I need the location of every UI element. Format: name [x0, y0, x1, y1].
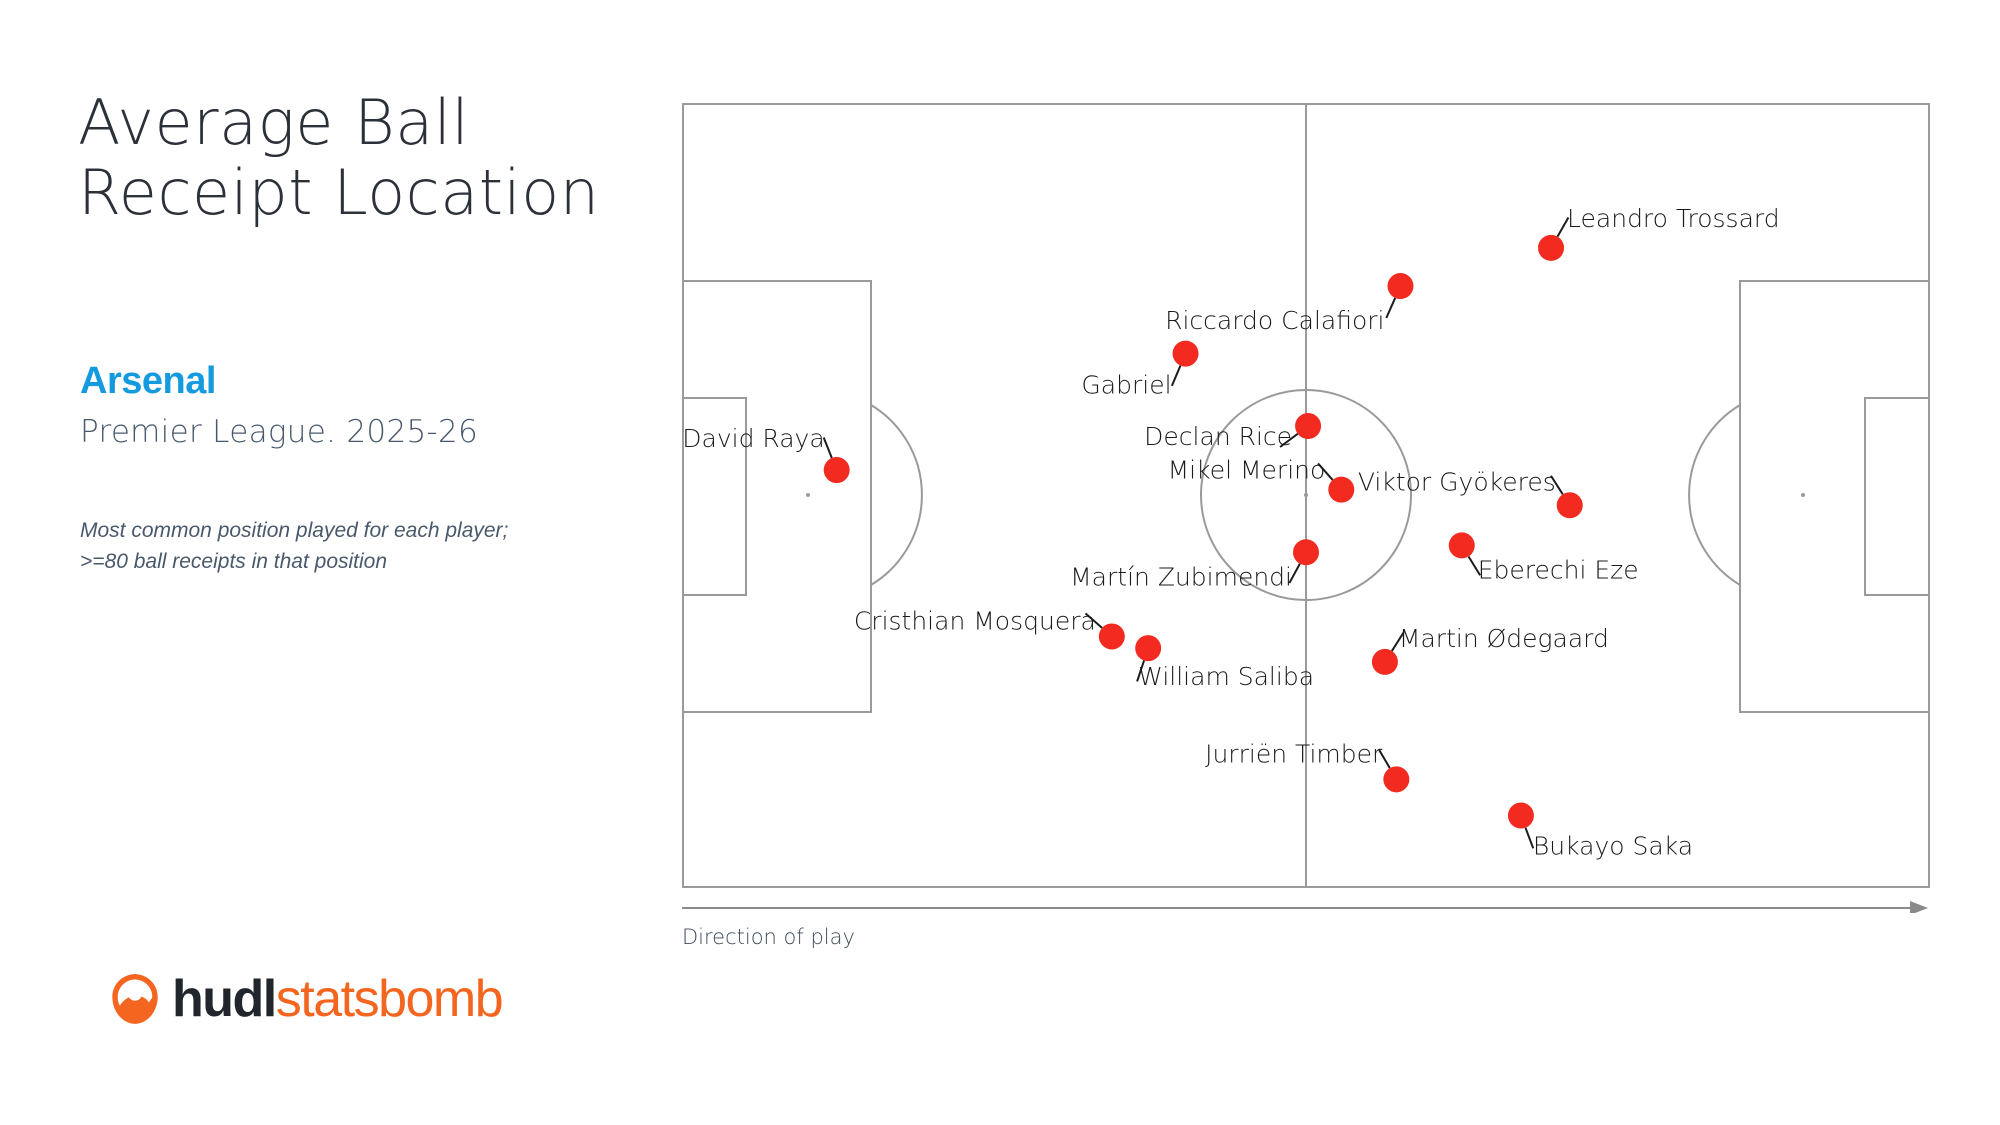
title-line-1: Average Ball: [78, 88, 600, 158]
player-marker[interactable]: Mikel Merino: [1168, 456, 1355, 503]
right-penalty-area: [1740, 281, 1929, 712]
competition-season: Premier League. 2025-26: [80, 414, 478, 450]
player-marker[interactable]: Viktor Gyökeres: [1358, 467, 1583, 518]
player-dot[interactable]: [1449, 532, 1475, 558]
right-penalty-arc: [1689, 405, 1740, 585]
player-label: Eberechi Eze: [1478, 555, 1639, 584]
player-label: Martin Ødegaard: [1399, 624, 1609, 653]
player-label: Mikel Merino: [1168, 456, 1326, 485]
center-spot: [1304, 493, 1308, 497]
player-dot[interactable]: [824, 457, 850, 483]
player-marker[interactable]: Cristhian Mosquera: [854, 606, 1125, 649]
leader-line: [1172, 366, 1181, 386]
hudl-swirl-icon: [108, 972, 162, 1026]
logo-statsbomb-text: statsbomb: [276, 970, 502, 1028]
player-marker[interactable]: Riccardo Calafiori: [1165, 273, 1413, 335]
player-marker[interactable]: Jurriën Timber: [1205, 739, 1409, 792]
player-dot[interactable]: [1099, 623, 1125, 649]
right-penalty-spot: [1801, 493, 1805, 497]
player-dot[interactable]: [1295, 413, 1321, 439]
pitch-plot: David RayaGabrielRiccardo CalafioriLeand…: [682, 103, 1930, 888]
title-line-2: Receipt Location: [78, 158, 600, 228]
player-label: Bukayo Saka: [1533, 832, 1693, 861]
player-dot[interactable]: [1372, 649, 1398, 675]
note-line-2: >=80 ball receipts in that position: [80, 546, 508, 577]
player-marker[interactable]: Bukayo Saka: [1508, 803, 1693, 861]
player-dot[interactable]: [1508, 803, 1534, 829]
direction-of-play-label: Direction of play: [682, 925, 855, 949]
note-line-1: Most common position played for each pla…: [80, 515, 508, 546]
player-label: Viktor Gyökeres: [1358, 467, 1556, 496]
logo-wordmark: hudlstatsbomb: [172, 972, 502, 1026]
page-title: Average Ball Receipt Location: [78, 88, 600, 228]
player-marker[interactable]: Martín Zubimendi: [1070, 539, 1319, 591]
direction-of-play-arrow: [682, 901, 1928, 913]
visualization-canvas: Average Ball Receipt Location Arsenal Pr…: [0, 0, 2000, 1125]
player-dot[interactable]: [1173, 341, 1199, 367]
player-dot[interactable]: [1538, 235, 1564, 261]
player-label: Riccardo Calafiori: [1165, 306, 1384, 335]
team-name: Arsenal: [80, 360, 216, 403]
player-label: William Saliba: [1138, 662, 1314, 691]
player-marker[interactable]: Eberechi Eze: [1449, 532, 1639, 584]
player-dot[interactable]: [1387, 273, 1413, 299]
player-label: David Raya: [682, 424, 824, 453]
player-dot[interactable]: [1328, 477, 1354, 503]
right-six-yard-box: [1865, 398, 1929, 595]
player-dot[interactable]: [1383, 766, 1409, 792]
left-penalty-arc: [871, 405, 922, 585]
player-dot[interactable]: [1293, 539, 1319, 565]
player-label: Cristhian Mosquera: [854, 606, 1096, 635]
player-marker[interactable]: Gabriel: [1081, 341, 1198, 400]
player-label: Jurriën Timber: [1205, 739, 1383, 768]
methodology-note: Most common position played for each pla…: [80, 515, 508, 577]
logo-hudl-text: hudl: [172, 970, 276, 1028]
left-penalty-spot: [806, 493, 810, 497]
player-label: Martín Zubimendi: [1070, 562, 1292, 591]
player-markers-layer: David RayaGabrielRiccardo CalafioriLeand…: [682, 204, 1779, 861]
player-marker[interactable]: Martin Ødegaard: [1372, 624, 1609, 675]
player-marker[interactable]: William Saliba: [1135, 635, 1314, 691]
leader-line: [1386, 298, 1395, 318]
player-marker[interactable]: David Raya: [682, 424, 849, 483]
left-penalty-area: [683, 281, 871, 712]
player-marker[interactable]: Leandro Trossard: [1538, 204, 1780, 261]
leader-line: [824, 438, 832, 458]
player-dot[interactable]: [1135, 635, 1161, 661]
player-label: Gabriel: [1081, 371, 1171, 400]
player-dot[interactable]: [1557, 492, 1583, 518]
player-label: Leandro Trossard: [1567, 204, 1780, 233]
hudl-statsbomb-logo: hudlstatsbomb: [108, 972, 502, 1026]
player-label: Declan Rice: [1144, 422, 1292, 451]
